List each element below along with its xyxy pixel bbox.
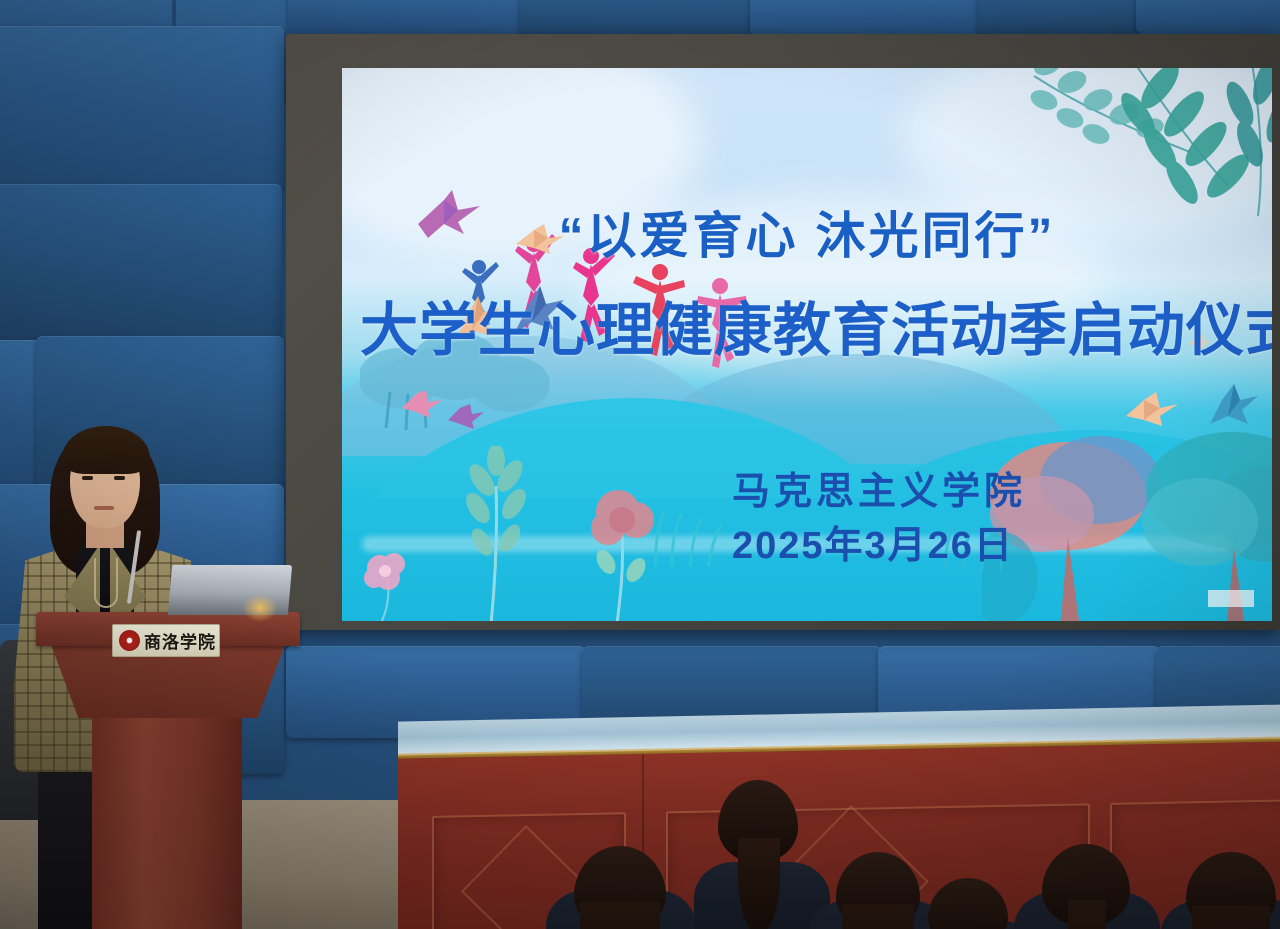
audience-head <box>928 878 1008 929</box>
audience-person-6 <box>1156 852 1280 929</box>
origami-bird-icon <box>1208 382 1260 428</box>
lectern-nameplate-text: 商洛学院 <box>144 628 216 653</box>
audience-person-1 <box>540 846 700 929</box>
wall-panel <box>978 0 1140 35</box>
speaker-necklace <box>94 558 118 608</box>
origami-bird-icon <box>446 402 486 432</box>
audience-person-5 <box>1010 844 1166 929</box>
audience-hair <box>580 902 660 929</box>
audience-hair <box>1192 906 1270 929</box>
flower-icon <box>354 544 424 621</box>
origami-bird-icon <box>400 388 444 422</box>
lectern-column <box>92 716 242 929</box>
speaker-eye-left <box>82 476 93 480</box>
grass-tuft-icon <box>642 498 732 568</box>
lectern-nameplate: 商洛学院 <box>112 624 220 657</box>
wall-panel <box>520 0 754 38</box>
slide-organization: 马克思主义学院 <box>732 460 1026 515</box>
speaker-mouth <box>94 506 114 510</box>
speaker-fringe <box>62 426 150 474</box>
slide-title-main: 大学生心理健康教育活动季启动仪式 <box>352 283 1272 367</box>
plant-icon <box>448 446 544 621</box>
audience-ponytail <box>1068 900 1106 929</box>
slide-title-quote: “以爱育心 沐光同行” <box>342 196 1272 268</box>
wall-panel <box>1136 0 1280 34</box>
slide-watermark <box>1208 590 1254 607</box>
leaf-branches-icon <box>1014 68 1272 306</box>
wall-panel <box>0 26 284 190</box>
lectern: 商洛学院 <box>36 612 300 929</box>
projection-screen: “以爱育心 沐光同行” 大学生心理健康教育活动季启动仪式 马克思主义学院 202… <box>342 68 1272 621</box>
audience-ponytail <box>738 838 780 929</box>
wall-panel <box>750 0 982 36</box>
conference-hall-scene: “以爱育心 沐光同行” 大学生心理健康教育活动季启动仪式 马克思主义学院 202… <box>0 0 1280 929</box>
speaker-eye-right <box>114 476 125 480</box>
slide-date: 2025年3月26日 <box>732 514 1014 569</box>
projection-screen-frame: “以爱育心 沐光同行” 大学生心理健康教育活动季启动仪式 马克思主义学院 202… <box>286 34 1280 630</box>
wall-panel <box>0 184 282 344</box>
origami-bird-icon <box>1124 390 1180 430</box>
laptop-screen-glow <box>242 594 278 622</box>
university-seal-icon <box>119 630 140 651</box>
